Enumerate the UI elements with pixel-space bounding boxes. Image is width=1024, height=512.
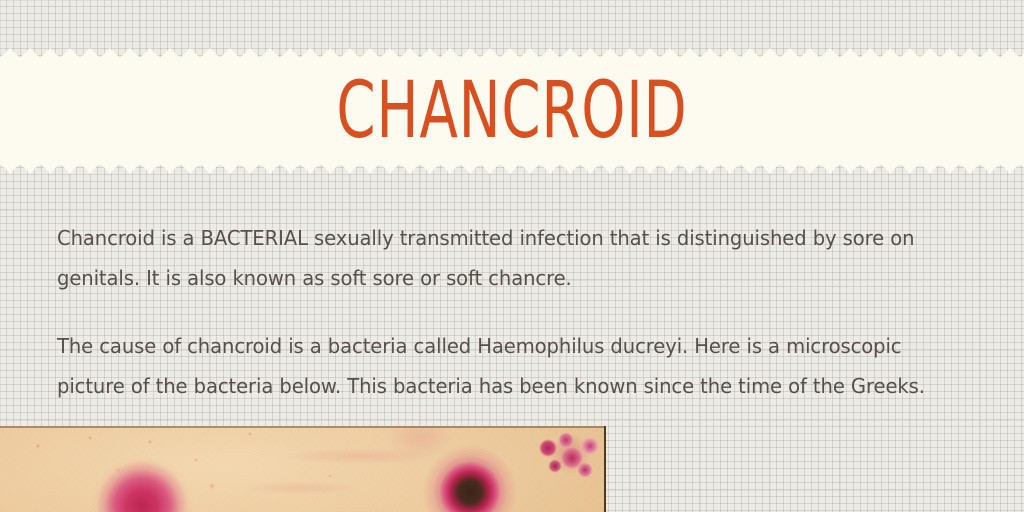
article-body: Chancroid is a BACTERIAL sexually transm… [57,218,945,406]
paragraph-2: The cause of chancroid is a bacteria cal… [57,326,945,406]
photo-top-edge [0,426,604,428]
banner-bottom-zigzag-edge [0,163,1024,174]
paragraph-1: Chancroid is a BACTERIAL sexually transm… [57,218,945,298]
microscope-photo-image [0,426,604,512]
title-banner: CHANCROID [0,48,1024,174]
page-title: CHANCROID [102,57,921,165]
microscope-photo [0,426,606,512]
